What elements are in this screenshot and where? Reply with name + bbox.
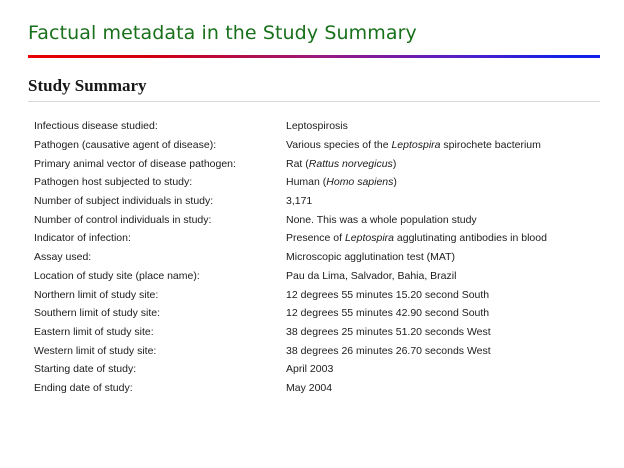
metadata-label: Eastern limit of study site: — [34, 323, 286, 342]
metadata-value: April 2003 — [286, 360, 609, 379]
table-row: Ending date of study:May 2004 — [34, 379, 609, 398]
table-row: Primary animal vector of disease pathoge… — [34, 154, 609, 173]
table-row: Eastern limit of study site:38 degrees 2… — [34, 323, 609, 342]
metadata-value: Microscopic agglutination test (MAT) — [286, 248, 609, 267]
table-row: Pathogen (causative agent of disease):Va… — [34, 136, 609, 155]
metadata-label: Number of subject individuals in study: — [34, 192, 286, 211]
table-row: Southern limit of study site:12 degrees … — [34, 304, 609, 323]
metadata-label: Location of study site (place name): — [34, 267, 286, 286]
section-header-study-summary: Study Summary — [28, 76, 147, 96]
metadata-label: Assay used: — [34, 248, 286, 267]
metadata-label: Northern limit of study site: — [34, 285, 286, 304]
metadata-value: May 2004 — [286, 379, 609, 398]
metadata-value: 38 degrees 26 minutes 26.70 seconds West — [286, 341, 609, 360]
study-summary-table-body: Infectious disease studied:Leptospirosis… — [34, 117, 609, 397]
slide-title: Factual metadata in the Study Summary — [28, 22, 417, 44]
table-row: Assay used:Microscopic agglutination tes… — [34, 248, 609, 267]
metadata-label: Infectious disease studied: — [34, 117, 286, 136]
table-row: Pathogen host subjected to study:Human (… — [34, 173, 609, 192]
metadata-label: Indicator of infection: — [34, 229, 286, 248]
metadata-value: Leptospirosis — [286, 117, 609, 136]
metadata-value: 3,171 — [286, 192, 609, 211]
study-summary-table: Infectious disease studied:Leptospirosis… — [34, 117, 609, 397]
metadata-label: Western limit of study site: — [34, 341, 286, 360]
metadata-value: Rat (Rattus norvegicus) — [286, 154, 609, 173]
title-gradient-rule — [28, 55, 600, 58]
table-row: Northern limit of study site:12 degrees … — [34, 285, 609, 304]
metadata-value: Various species of the Leptospira spiroc… — [286, 136, 609, 155]
metadata-value: None. This was a whole population study — [286, 210, 609, 229]
table-row: Western limit of study site:38 degrees 2… — [34, 341, 609, 360]
metadata-label: Southern limit of study site: — [34, 304, 286, 323]
table-row: Starting date of study:April 2003 — [34, 360, 609, 379]
table-row: Location of study site (place name):Pau … — [34, 267, 609, 286]
metadata-value: 12 degrees 55 minutes 42.90 second South — [286, 304, 609, 323]
table-row: Number of subject individuals in study:3… — [34, 192, 609, 211]
table-row: Number of control individuals in study:N… — [34, 210, 609, 229]
metadata-label: Number of control individuals in study: — [34, 210, 286, 229]
metadata-label: Primary animal vector of disease pathoge… — [34, 154, 286, 173]
slide-canvas: Factual metadata in the Study Summary St… — [0, 0, 624, 468]
section-divider — [28, 101, 600, 102]
metadata-value: Presence of Leptospira agglutinating ant… — [286, 229, 609, 248]
metadata-value: 38 degrees 25 minutes 51.20 seconds West — [286, 323, 609, 342]
metadata-label: Pathogen host subjected to study: — [34, 173, 286, 192]
metadata-label: Starting date of study: — [34, 360, 286, 379]
metadata-label: Pathogen (causative agent of disease): — [34, 136, 286, 155]
metadata-label: Ending date of study: — [34, 379, 286, 398]
metadata-value: Pau da Lima, Salvador, Bahia, Brazil — [286, 267, 609, 286]
metadata-value: 12 degrees 55 minutes 15.20 second South — [286, 285, 609, 304]
metadata-value: Human (Homo sapiens) — [286, 173, 609, 192]
table-row: Indicator of infection:Presence of Lepto… — [34, 229, 609, 248]
table-row: Infectious disease studied:Leptospirosis — [34, 117, 609, 136]
